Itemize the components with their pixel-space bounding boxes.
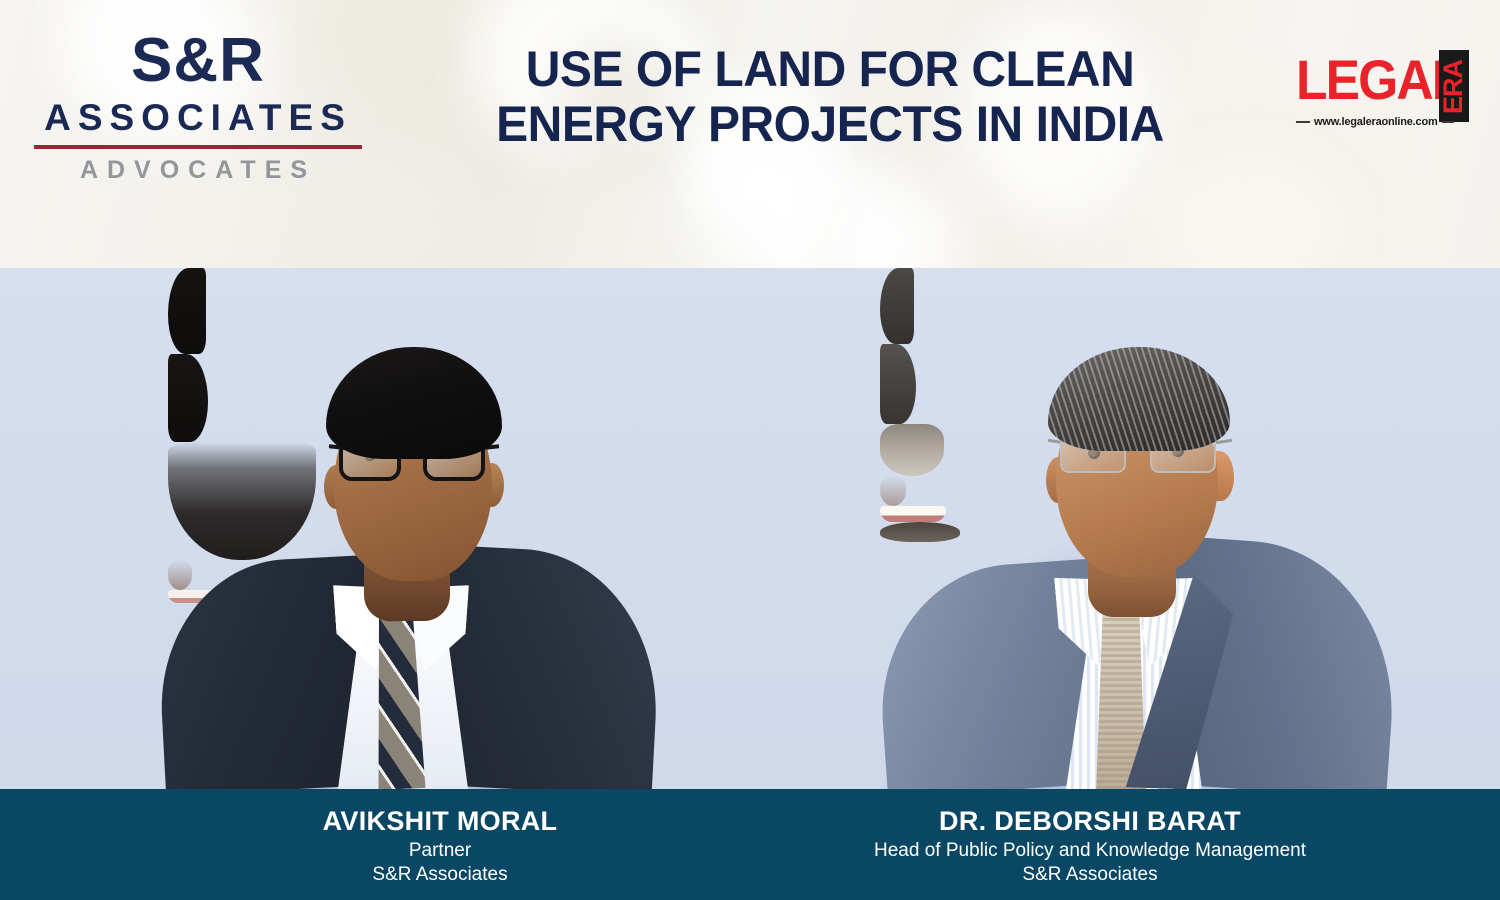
goatee [880,424,944,476]
speaker-firm: S&R Associates [190,863,690,887]
bokeh-light [840,180,970,268]
speaker-photo-deborshi-barat [880,268,1370,789]
publisher-logo-wordmark: LEGAL [1296,52,1461,108]
header-band: S&R ASSOCIATES ADVOCATES USE OF LAND FOR… [0,0,1500,268]
speaker-caption-1: AVIKSHIT MORAL Partner S&R Associates [190,789,690,887]
speaker-caption-2: DR. DEBORSHI BARAT Head of Public Policy… [830,789,1350,887]
speaker-name: DR. DEBORSHI BARAT [830,806,1350,836]
hair [326,347,502,459]
hair-side-right [880,344,916,424]
hair-side-left [880,268,914,344]
firm-logo-associates: ASSOCIATES [28,97,368,140]
publisher-logo-url: www.legaleraonline.com [1314,116,1438,128]
firm-logo-divider [34,145,362,149]
hair-side-right [168,354,208,442]
firm-logo[interactable]: S&R ASSOCIATES ADVOCATES [28,30,368,185]
mouth [880,506,946,522]
speaker-caption-band: AVIKSHIT MORAL Partner S&R Associates DR… [0,789,1500,900]
hair [1048,347,1230,451]
bokeh-light [1150,150,1350,268]
page-title-line-1: USE OF LAND FOR CLEAN [417,42,1243,97]
speaker-photo-avikshit-moral [168,268,628,789]
hair-side-left [168,268,206,354]
speaker-name: AVIKSHIT MORAL [190,806,690,836]
speaker-role: Head of Public Policy and Knowledge Mana… [830,839,1350,863]
portrait-stage [0,268,1500,789]
publisher-logo[interactable]: LEGAL ERA www.legaleraonline.com [1296,50,1474,142]
nose [880,476,906,506]
page-title: USE OF LAND FOR CLEAN ENERGY PROJECTS IN… [400,42,1260,152]
publisher-logo-url-row: www.legaleraonline.com [1296,116,1474,128]
dash-right-icon [1442,121,1454,123]
speaker-role: Partner [190,839,690,863]
speaker-firm: S&R Associates [830,863,1350,887]
webinar-banner: S&R ASSOCIATES ADVOCATES USE OF LAND FOR… [0,0,1500,900]
firm-logo-advocates: ADVOCATES [28,156,368,185]
publisher-logo-era-text: ERA [1439,51,1468,122]
publisher-logo-era-block: ERA [1439,50,1469,122]
page-title-line-2: ENERGY PROJECTS IN INDIA [417,97,1243,152]
firm-logo-initials: S&R [28,30,368,92]
dash-left-icon [1296,121,1310,123]
